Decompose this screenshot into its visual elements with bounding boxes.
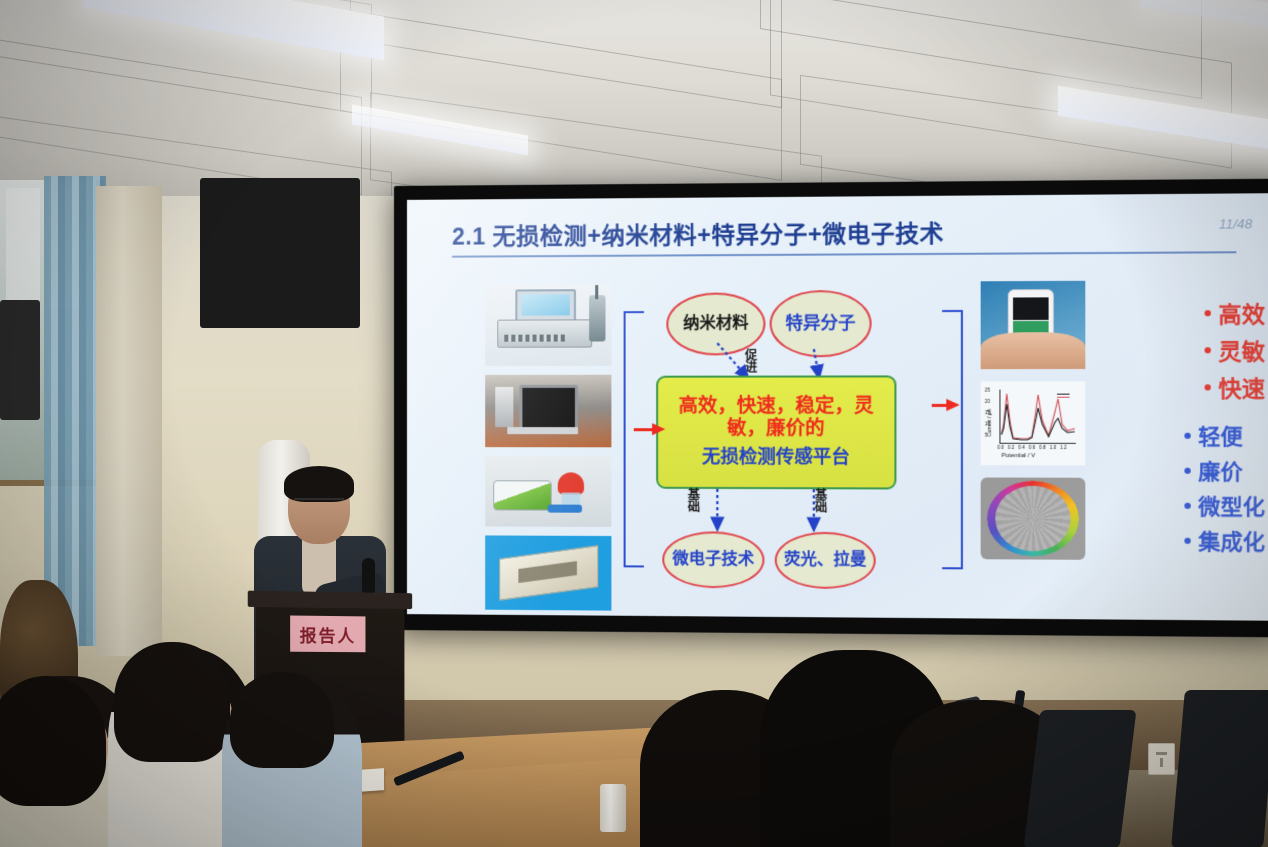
core-platform-box: 高效，快速，稳定，灵 敏，廉价的 无损检测传感平台	[656, 375, 896, 489]
audience-hair	[0, 676, 106, 806]
suspended-ceiling	[0, 0, 1268, 205]
analyzer-body	[493, 480, 551, 510]
projection-screen[interactable]: 2.1 无损检测+纳米材料+特异分子+微电子技术 11/48	[394, 179, 1268, 638]
eyeglasses-icon	[294, 498, 344, 510]
red-bullet-list: 高效 灵敏 快速	[1205, 296, 1266, 408]
chart-x-axis-label: Potential / V	[1002, 453, 1036, 459]
wall-display-panel	[200, 178, 360, 328]
chart-plot-area	[999, 390, 1075, 444]
bullet-blue-label-1: 廉价	[1198, 455, 1243, 486]
chart-x-tick-5: 1.0	[1050, 445, 1057, 450]
title-underline	[452, 251, 1236, 257]
legend-line-a	[1057, 394, 1070, 395]
microphone-icon	[362, 558, 375, 596]
office-chair	[1024, 710, 1137, 847]
sensor-disc	[995, 486, 1070, 552]
wall-pillar	[96, 186, 162, 656]
bullet-blue-3: 集成化	[1184, 525, 1265, 556]
bullet-dot-icon	[1184, 468, 1190, 474]
sample-cup	[558, 472, 584, 494]
bullet-dot-icon	[1205, 347, 1211, 353]
chart-y-tick-5: 5	[985, 433, 988, 438]
keyboard-icon	[507, 427, 578, 434]
desktop-computer-setup-photo	[485, 375, 611, 448]
power-outlet	[1148, 743, 1175, 775]
chart-x-tick-1: 0.2	[1008, 445, 1015, 450]
office-chair	[1171, 690, 1268, 847]
chip-body	[499, 545, 598, 600]
bullet-red-2: 快速	[1205, 371, 1266, 404]
bullet-red-label-2: 快速	[1218, 371, 1265, 404]
microfluidic-chip-photo	[485, 535, 611, 610]
wall-speaker	[0, 300, 40, 420]
electrode-probe	[589, 295, 605, 341]
core-line-2: 敏，廉价的	[727, 418, 825, 441]
podium-top	[248, 591, 412, 609]
audience-member	[222, 676, 362, 847]
bullet-dot-icon	[1205, 384, 1211, 390]
bullet-red-label-1: 灵敏	[1218, 334, 1265, 367]
bullet-dot-icon	[1184, 503, 1190, 509]
application-media-column: Current / μA 25 20 15 10	[981, 281, 1086, 572]
bullet-blue-1: 廉价	[1184, 455, 1265, 486]
bullet-red-0: 高效	[1205, 296, 1266, 329]
electrochemical-workstation-photo	[485, 285, 611, 366]
smartphone-readout-photo	[981, 281, 1086, 369]
label-basis-left: 基础	[687, 489, 701, 513]
label-promote: 促进	[744, 349, 758, 373]
podium-sign: 报告人	[290, 615, 365, 652]
hand-holding-phone	[981, 332, 1086, 369]
left-bracket	[624, 311, 644, 567]
chart-y-tick-25: 25	[985, 388, 990, 393]
voltammogram-chart: Current / μA 25 20 15 10	[981, 381, 1086, 465]
bullet-blue-label-0: 轻便	[1198, 420, 1243, 451]
bullet-blue-label-2: 微型化	[1198, 490, 1265, 521]
pc-tower	[495, 387, 513, 427]
audience-hair	[230, 672, 334, 768]
instrument-photo-column	[485, 285, 611, 620]
right-bracket	[942, 310, 963, 569]
audience-hair	[114, 642, 230, 762]
chart-y-tick-10: 10	[985, 421, 990, 426]
node-fluorescence-raman: 荧光、拉曼	[775, 532, 876, 589]
chart-x-tick-6: 1.2	[1060, 445, 1067, 450]
presenter-hair	[284, 466, 354, 502]
bullet-dot-icon	[1205, 310, 1211, 316]
outflow-arrow-head	[946, 399, 960, 411]
test-strip	[548, 505, 582, 513]
label-basis-right: 基础	[814, 489, 828, 513]
bullet-red-1: 灵敏	[1205, 334, 1266, 367]
bullet-blue-label-3: 集成化	[1198, 525, 1265, 556]
bullet-dot-icon	[1184, 538, 1190, 544]
workstation-chassis	[497, 319, 592, 347]
series-b-line	[1002, 394, 1075, 439]
chart-y-tick-20: 20	[985, 399, 990, 404]
bullet-dot-icon	[1184, 433, 1190, 439]
chart-legend	[1057, 392, 1074, 400]
colorimetric-sensor-array-photo	[981, 477, 1086, 559]
chart-y-tick-15: 15	[985, 410, 990, 415]
node-microelectronics: 微电子技术	[662, 531, 764, 588]
core-line-3: 无损检测传感平台	[702, 443, 850, 470]
inflow-arrow-shaft	[634, 428, 654, 431]
node-specific-molecule: 特异分子	[770, 290, 872, 357]
chart-x-tick-4: 0.8	[1039, 445, 1046, 450]
legend-line-b	[1057, 397, 1070, 398]
slide-page-number: 11/48	[1219, 216, 1253, 232]
chart-x-tick-0: 0.0	[997, 445, 1004, 450]
drink-cup	[600, 784, 626, 832]
monitor-icon	[519, 385, 578, 431]
blue-bullet-list: 轻便 廉价 微型化 集成化	[1184, 420, 1265, 560]
concept-diagram: 纳米材料 特异分子 促进 高效，快速，稳定，灵 敏，廉	[624, 290, 963, 596]
bullet-red-label-0: 高效	[1218, 296, 1265, 329]
bullet-blue-2: 微型化	[1184, 490, 1265, 521]
slide-title: 2.1 无损检测+纳米材料+特异分子+微电子技术	[452, 214, 944, 252]
inflow-arrow-head	[652, 423, 665, 435]
node-nano-material: 纳米材料	[666, 292, 765, 355]
chart-x-tick-3: 0.6	[1029, 445, 1036, 450]
presentation-slide: 2.1 无损检测+纳米材料+特异分子+微电子技术 11/48	[407, 193, 1268, 621]
bullet-blue-0: 轻便	[1184, 420, 1265, 451]
core-line-1: 高效，快速，稳定，灵	[679, 395, 874, 418]
lecture-hall-photo: 2.1 无损检测+纳米材料+特异分子+微电子技术 11/48	[0, 0, 1268, 847]
chart-x-tick-2: 0.4	[1018, 445, 1025, 450]
portable-analyzer-photo	[485, 456, 611, 527]
